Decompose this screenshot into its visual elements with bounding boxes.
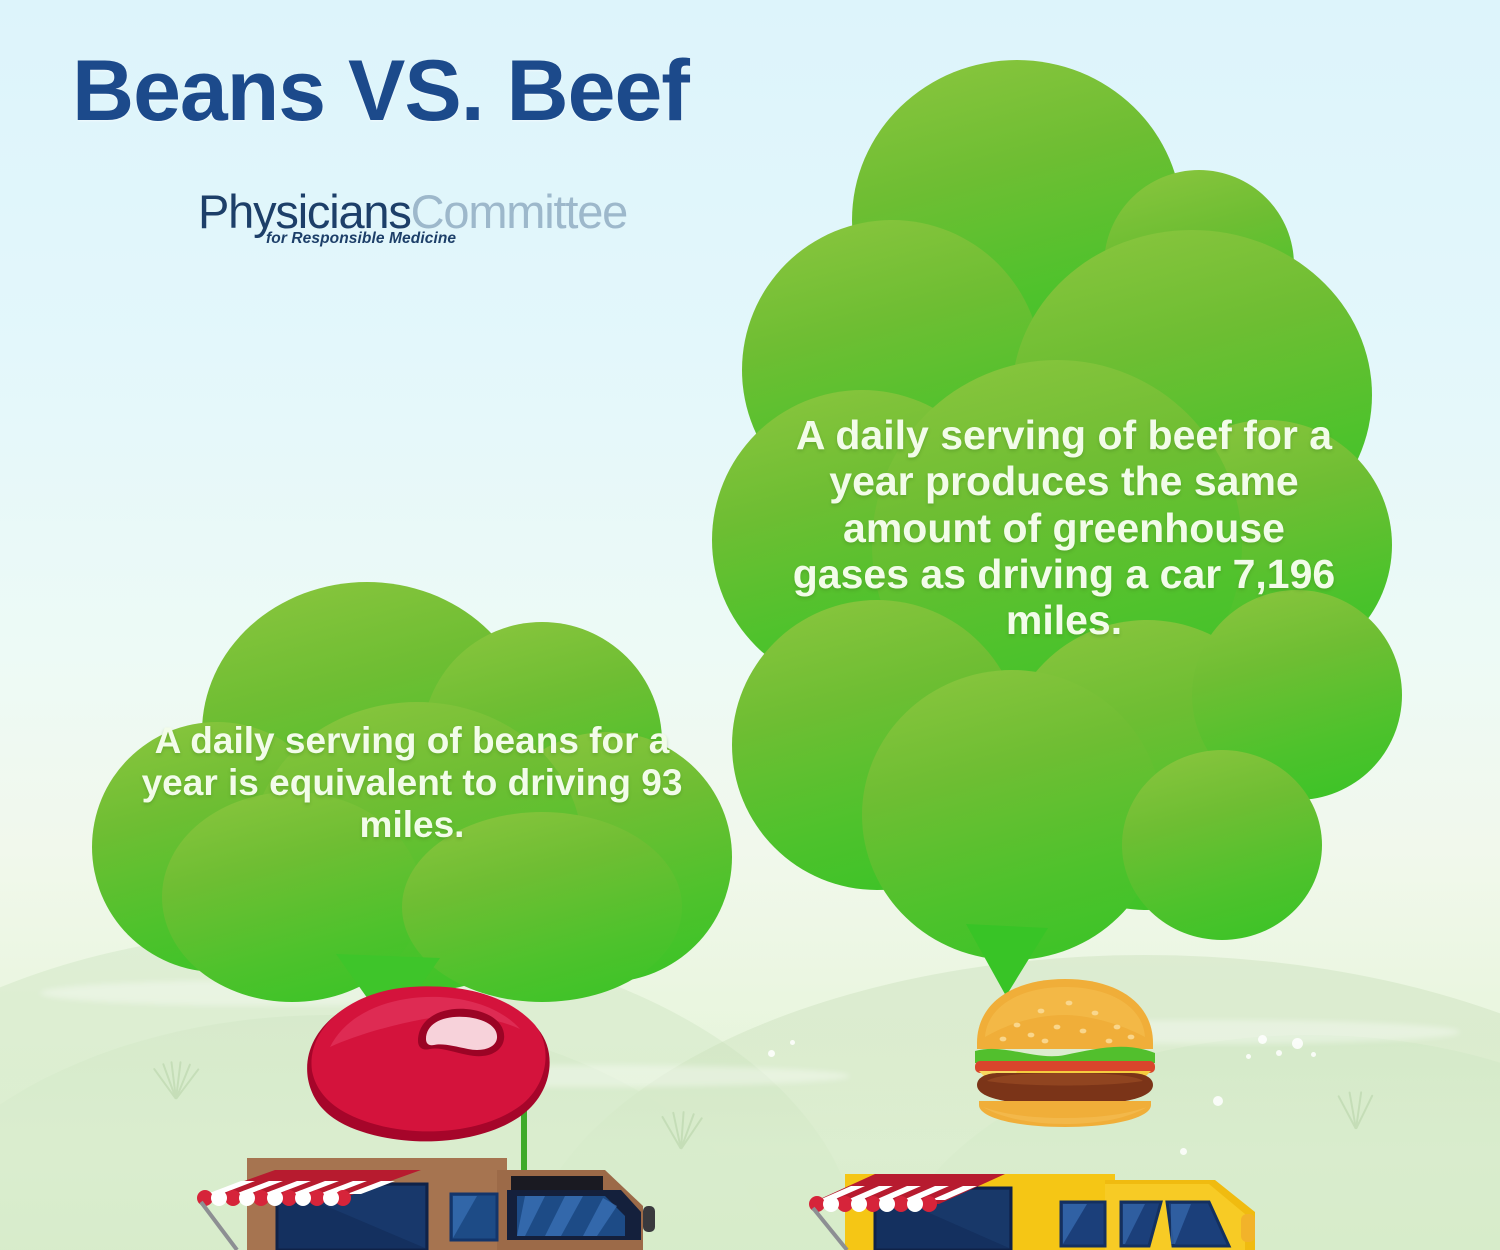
sparkle-dot	[1276, 1050, 1282, 1056]
organization-logo: PhysiciansCommittee for Responsible Medi…	[198, 188, 627, 248]
sparkle-dot	[790, 1040, 795, 1045]
speech-bubble-beef: A daily serving of beef for a year produ…	[712, 60, 1412, 995]
cheeseburger-icon	[965, 975, 1165, 1140]
sparkle-dot	[1258, 1035, 1267, 1044]
page-title: Beans VS. Beef	[72, 48, 689, 134]
bubble-lobe	[1122, 750, 1322, 940]
sparkle-dot	[1292, 1038, 1303, 1049]
logo-wordmark: PhysiciansCommittee	[198, 188, 627, 235]
grass-tuft	[1320, 1085, 1390, 1129]
sparkle-dot	[1311, 1052, 1316, 1057]
bean-food-truck	[185, 1150, 665, 1250]
sparkle-dot	[1246, 1054, 1251, 1059]
grass-tuft	[645, 1105, 715, 1149]
infographic-canvas: Beans VS. Beef PhysiciansCommittee for R…	[0, 0, 1500, 1250]
bubble-lobe	[862, 670, 1162, 960]
kidney-bean-icon	[290, 975, 560, 1155]
sparkle-dot	[1213, 1096, 1223, 1106]
speech-bubble-beans: A daily serving of beans for a year is e…	[92, 582, 732, 1002]
bubble-text-beans: A daily serving of beans for a year is e…	[126, 720, 698, 845]
beef-food-truck	[805, 1150, 1265, 1250]
grass-tuft	[140, 1055, 210, 1099]
bubble-text-beef: A daily serving of beef for a year produ…	[784, 412, 1344, 644]
sparkle-dot	[768, 1050, 775, 1057]
